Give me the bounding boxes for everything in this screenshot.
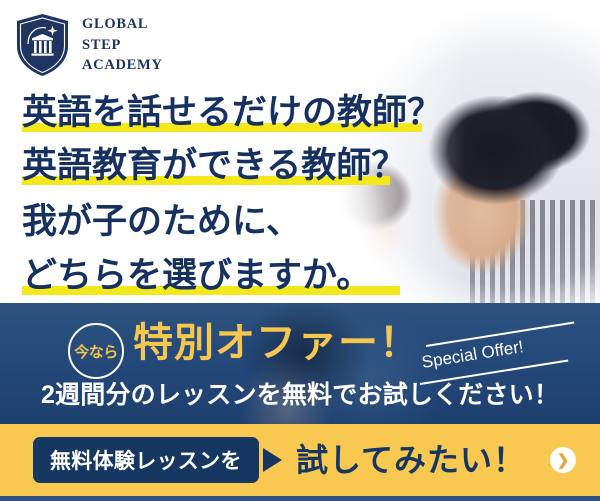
- brand-name-line2: STEP: [82, 35, 163, 56]
- headline-line-2: 英語教育ができる教師？: [22, 139, 492, 192]
- now-badge-label: 今なら: [74, 341, 118, 362]
- headline-line-4: どちらを選びますか。: [22, 249, 492, 302]
- offer-subtext: 2週間分のレッスンを無料でお試しください！: [0, 375, 600, 411]
- headline-line-1: 英語を話せるだけの教師？: [22, 86, 492, 139]
- cta-bubble[interactable]: 無料体験レッスンを: [33, 437, 259, 483]
- brand-logo[interactable]: GLOBAL STEP ACADEMY: [14, 13, 163, 77]
- offer-section: 今なら 特別オファー！ Special Offer! 2週間分のレッスンを無料で…: [0, 303, 600, 424]
- offer-headline-row: 今なら 特別オファー！ Special Offer!: [0, 317, 600, 369]
- offer-headline: 特別オファー！: [133, 317, 420, 369]
- brand-name-line3: ACADEMY: [82, 55, 163, 76]
- headline-line-1-text: 英語を話せるだけの教師？: [22, 93, 442, 132]
- headline: 英語を話せるだけの教師？ 英語教育ができる教師？ 我が子のために、 どちらを選び…: [22, 86, 492, 302]
- headline-line-4-text: どちらを選びますか。: [22, 256, 371, 295]
- cta-bubble-tail-icon: [263, 448, 282, 472]
- headline-line-3: 我が子のために、: [22, 195, 492, 248]
- cta-bar[interactable]: 無料体験レッスンを 試してみたい！ ❯: [0, 424, 600, 496]
- cta-bubble-label: 無料体験レッスンを: [50, 445, 242, 475]
- bottom-strip: [0, 496, 600, 501]
- cta-main-label: 試してみたい！: [296, 434, 526, 486]
- brand-name: GLOBAL STEP ACADEMY: [82, 14, 163, 77]
- cta-arrow-glyph: ❯: [557, 453, 570, 468]
- brand-name-line1: GLOBAL: [82, 14, 163, 35]
- headline-line-2-text: 英語教育ができる教師？: [22, 146, 406, 185]
- hero-section: GLOBAL STEP ACADEMY 英語を話せるだけの教師？ 英語教育ができ…: [0, 0, 600, 303]
- chevron-right-icon[interactable]: ❯: [550, 447, 576, 473]
- shield-temple-star-icon: [14, 13, 71, 77]
- now-badge: 今なら: [68, 323, 124, 379]
- headline-line-3-text: 我が子のために、: [22, 202, 301, 241]
- advertisement-banner: GLOBAL STEP ACADEMY 英語を話せるだけの教師？ 英語教育ができ…: [0, 0, 600, 501]
